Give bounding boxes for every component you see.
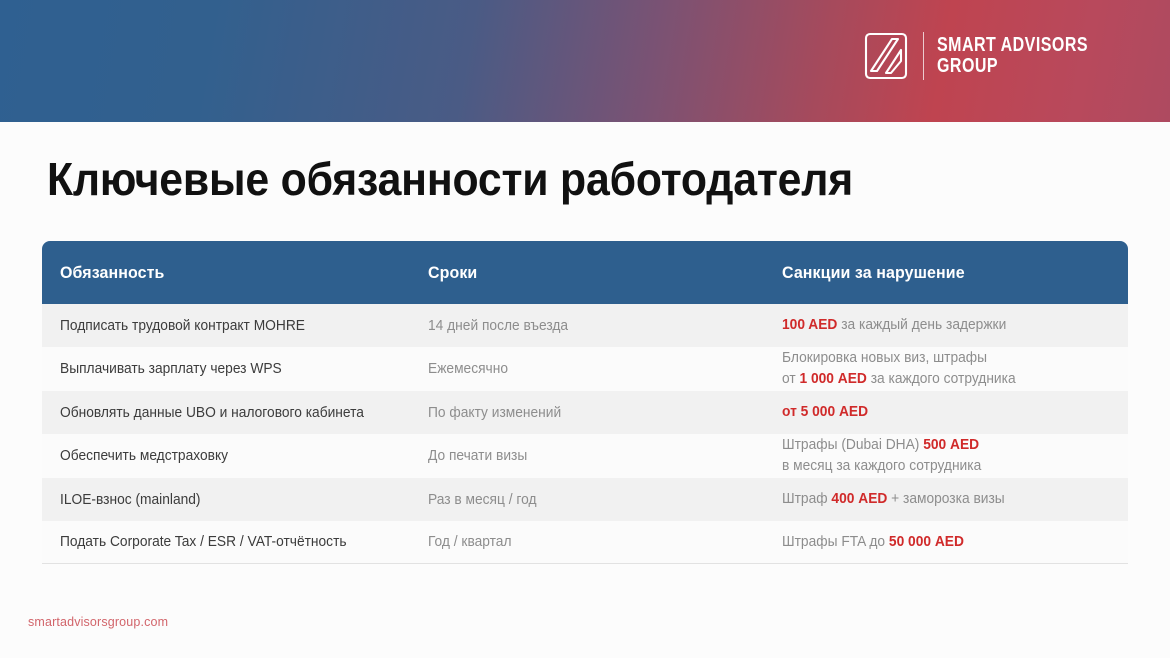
brand-name: SMART ADVISORS GROUP — [937, 35, 1088, 77]
penalty-prefix: от — [782, 371, 800, 387]
brand-name-line2: GROUP — [937, 56, 1088, 77]
column-header-penalty: Санкции за нарушение — [782, 263, 1090, 283]
cell-term: 14 дней после въезда — [428, 318, 764, 334]
penalty-prefix: Штрафы (Dubai DHA) — [782, 437, 923, 453]
penalty-amount: 400 AED — [831, 491, 887, 507]
penalty-text: за каждого сотрудника — [867, 371, 1016, 387]
cell-duty: Подать Corporate Tax / ESR / VAT-отчётно… — [60, 534, 410, 550]
cell-penalty: Штраф 400 AED + заморозка визы — [782, 489, 1094, 510]
brand-name-line1: SMART ADVISORS — [937, 35, 1088, 56]
table-header-row: Обязанность Сроки Санкции за нарушение — [42, 241, 1128, 304]
penalty-text: + заморозка визы — [887, 491, 1004, 507]
penalty-prefix: Штраф — [782, 491, 831, 507]
cell-penalty: Блокировка новых виз, штрафы от 1 000 AE… — [782, 348, 1094, 389]
page-title: Ключевые обязанности работодателя — [47, 152, 853, 206]
penalty-amount: 100 AED — [782, 317, 837, 333]
penalty-prefix: Штрафы FTA до — [782, 534, 889, 550]
penalty-text: Блокировка новых виз, штрафы — [782, 350, 987, 366]
cell-term: Год / квартал — [428, 534, 764, 550]
cell-duty: Подписать трудовой контракт MOHRE — [60, 318, 410, 334]
cell-term: Ежемесячно — [428, 361, 764, 377]
cell-duty: Обновлять данные UBO и налогового кабине… — [60, 405, 410, 421]
table-row: Обновлять данные UBO и налогового кабине… — [42, 391, 1128, 434]
cell-term: До печати визы — [428, 448, 764, 464]
brand-lockup: SMART ADVISORS GROUP — [862, 31, 1126, 81]
cell-penalty: Штрафы FTA до 50 000 AED — [782, 532, 1094, 553]
cell-penalty: 100 AED за каждый день задержки — [782, 315, 1094, 336]
cell-penalty: от 5 000 AED — [782, 402, 1094, 423]
column-header-term: Сроки — [428, 263, 761, 283]
cell-penalty: Штрафы (Dubai DHA) 500 AED в месяц за ка… — [782, 435, 1094, 476]
obligations-table: Обязанность Сроки Санкции за нарушение П… — [42, 241, 1128, 564]
penalty-amount: 50 000 AED — [889, 534, 964, 550]
smart-advisors-monogram-icon — [862, 31, 910, 81]
penalty-amount: 500 AED — [923, 437, 979, 453]
table-row: Подписать трудовой контракт MOHRE 14 дне… — [42, 304, 1128, 347]
footer-website[interactable]: smartadvisorsgroup.com — [28, 615, 168, 629]
table-row: Выплачивать зарплату через WPS Ежемесячн… — [42, 347, 1128, 391]
header-banner: SMART ADVISORS GROUP — [0, 0, 1170, 122]
table-row: Подать Corporate Tax / ESR / VAT-отчётно… — [42, 521, 1128, 564]
penalty-text: за каждый день задержки — [837, 317, 1006, 333]
penalty-amount: от 5 000 AED — [782, 404, 868, 420]
brand-divider — [923, 32, 924, 80]
penalty-text: в месяц за каждого сотрудника — [782, 458, 981, 474]
cell-term: Раз в месяц / год — [428, 492, 764, 508]
cell-duty: Выплачивать зарплату через WPS — [60, 361, 410, 377]
cell-duty: ILOE-взнос (mainland) — [60, 492, 410, 508]
cell-term: По факту изменений — [428, 405, 764, 421]
table-row: ILOE-взнос (mainland) Раз в месяц / год … — [42, 478, 1128, 521]
table-row: Обеспечить медстраховку До печати визы Ш… — [42, 434, 1128, 478]
penalty-amount: 1 000 AED — [800, 371, 867, 387]
cell-duty: Обеспечить медстраховку — [60, 448, 410, 464]
slide-root: SMART ADVISORS GROUP Ключевые обязанност… — [0, 0, 1170, 658]
column-header-duty: Обязанность — [60, 263, 406, 283]
